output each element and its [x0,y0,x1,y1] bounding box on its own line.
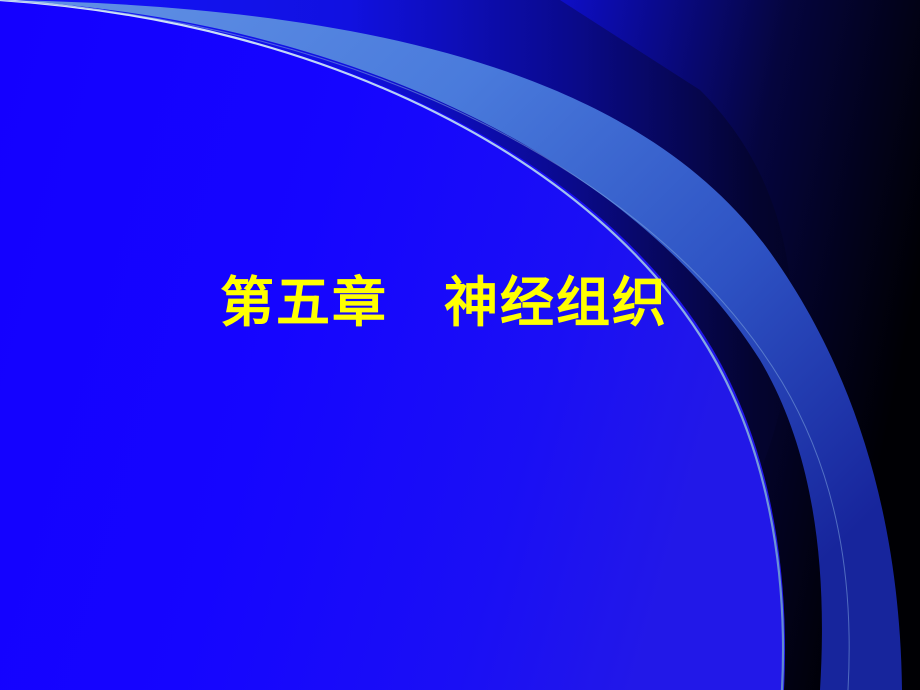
slide-background-graphic [0,0,920,690]
presentation-slide: 第五章 神经组织 [0,0,920,690]
